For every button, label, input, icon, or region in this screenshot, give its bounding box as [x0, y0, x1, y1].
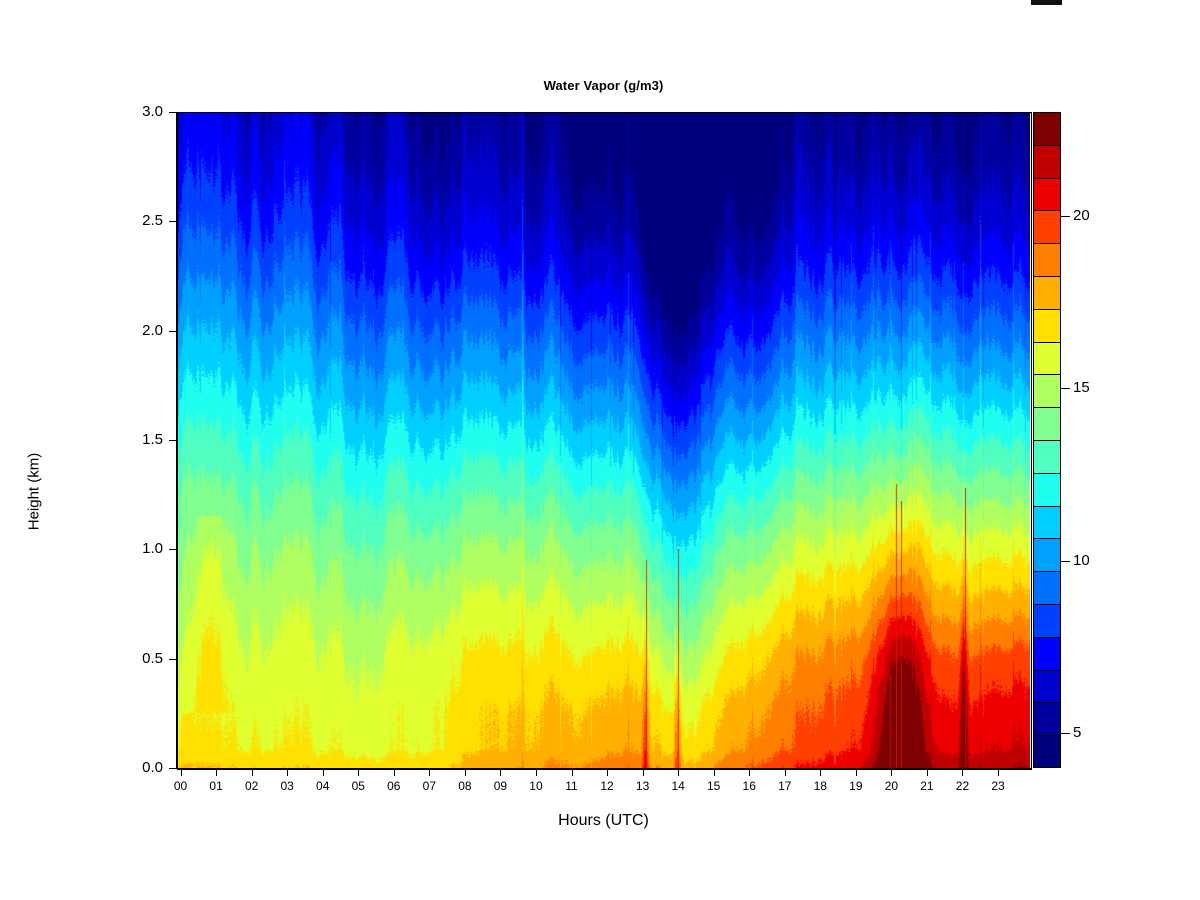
x-tick	[323, 769, 324, 776]
colorbar-band	[1033, 309, 1061, 342]
x-tick-label: 12	[587, 780, 627, 792]
x-axis-line	[176, 768, 1031, 769]
y-tick	[169, 440, 176, 441]
heatmap-canvas	[177, 112, 1030, 768]
x-tick-label: 05	[338, 780, 378, 792]
x-tick-label: 11	[552, 780, 592, 792]
x-tick-label: 20	[871, 780, 911, 792]
x-tick	[785, 769, 786, 776]
colorbar-band	[1033, 538, 1061, 571]
x-tick	[572, 769, 573, 776]
colorbar-band	[1033, 604, 1061, 637]
x-tick	[216, 769, 217, 776]
y-tick-label: 3.0	[117, 104, 163, 119]
x-tick	[536, 769, 537, 776]
x-tick-label: 10	[516, 780, 556, 792]
colorbar-band	[1033, 145, 1061, 178]
colorbar-band	[1033, 112, 1061, 145]
colorbar-band	[1033, 342, 1061, 375]
x-tick-label: 07	[409, 780, 449, 792]
colorbar-band	[1033, 473, 1061, 506]
colorbar-tick	[1061, 216, 1070, 217]
x-tick-label: 03	[267, 780, 307, 792]
x-tick	[607, 769, 608, 776]
colorbar-band	[1033, 571, 1061, 604]
x-tick	[962, 769, 963, 776]
y-tick-label: 2.0	[117, 323, 163, 338]
y-tick-label: 2.5	[117, 213, 163, 228]
x-tick	[252, 769, 253, 776]
colorbar-band	[1033, 407, 1061, 440]
figure-canvas: Water Vapor (g/m3) 0.00.51.01.52.02.53.0…	[0, 0, 1200, 900]
colorbar-band	[1033, 440, 1061, 473]
x-tick-label: 19	[836, 780, 876, 792]
x-tick	[500, 769, 501, 776]
colorbar-band	[1033, 276, 1061, 309]
colorbar-band	[1033, 243, 1061, 276]
x-tick	[394, 769, 395, 776]
x-tick	[998, 769, 999, 776]
y-tick	[169, 221, 176, 222]
y-tick-label: 1.0	[117, 541, 163, 556]
x-tick	[891, 769, 892, 776]
x-tick-label: 00	[161, 780, 201, 792]
colorbar-tick-label: 15	[1073, 380, 1090, 395]
colorbar-band	[1033, 670, 1061, 703]
x-tick	[714, 769, 715, 776]
x-tick-label: 17	[765, 780, 805, 792]
x-tick	[465, 769, 466, 776]
x-tick-label: 22	[942, 780, 982, 792]
colorbar-band	[1033, 637, 1061, 670]
x-tick-label: 01	[196, 780, 236, 792]
x-tick-label: 02	[232, 780, 272, 792]
x-tick-label: 14	[658, 780, 698, 792]
colorbar-band	[1033, 735, 1061, 768]
x-tick-label: 06	[374, 780, 414, 792]
colorbar-tick-label: 10	[1073, 553, 1090, 568]
x-tick	[181, 769, 182, 776]
colorbar-tick-label: 5	[1073, 725, 1081, 740]
x-tick-label: 18	[800, 780, 840, 792]
colorbar-tick	[1061, 388, 1070, 389]
y-axis-title: Height (km)	[26, 422, 43, 562]
x-tick	[678, 769, 679, 776]
x-tick	[643, 769, 644, 776]
y-tick-label: 0.5	[117, 651, 163, 666]
x-tick	[856, 769, 857, 776]
colorbar-band	[1033, 702, 1061, 735]
colorbar	[1033, 112, 1061, 768]
heatmap-plot-area	[177, 112, 1030, 768]
y-tick-label: 0.0	[117, 760, 163, 775]
x-tick-label: 09	[480, 780, 520, 792]
x-tick-label: 04	[303, 780, 343, 792]
colorbar-band	[1033, 210, 1061, 243]
top-edge-artifact	[1031, 0, 1062, 5]
x-tick-label: 21	[907, 780, 947, 792]
y-tick	[169, 659, 176, 660]
x-tick	[749, 769, 750, 776]
y-tick	[169, 331, 176, 332]
y-tick-label: 1.5	[117, 432, 163, 447]
x-tick	[927, 769, 928, 776]
colorbar-band	[1033, 506, 1061, 539]
x-tick-label: 08	[445, 780, 485, 792]
colorbar-tick-label: 20	[1073, 208, 1090, 223]
y-tick	[169, 549, 176, 550]
page-title: Water Vapor (g/m3)	[177, 78, 1030, 93]
x-tick-label: 13	[623, 780, 663, 792]
y-axis-line	[176, 112, 177, 769]
y-tick	[169, 768, 176, 769]
colorbar-tick	[1061, 733, 1070, 734]
colorbar-band	[1033, 178, 1061, 211]
x-axis-title: Hours (UTC)	[177, 812, 1030, 830]
x-tick	[429, 769, 430, 776]
x-tick	[287, 769, 288, 776]
x-tick-label: 16	[729, 780, 769, 792]
x-tick-label: 15	[694, 780, 734, 792]
x-tick	[820, 769, 821, 776]
x-tick-label: 23	[978, 780, 1018, 792]
colorbar-band	[1033, 374, 1061, 407]
y-tick	[169, 112, 176, 113]
x-tick	[358, 769, 359, 776]
colorbar-tick	[1061, 561, 1070, 562]
